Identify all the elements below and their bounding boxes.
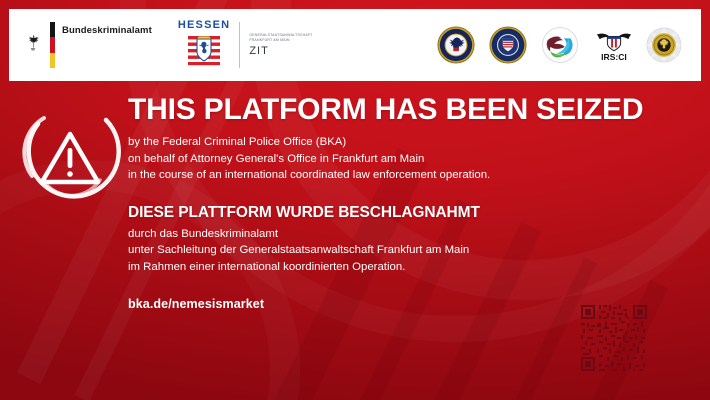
qr-code-icon[interactable] [581, 305, 647, 371]
german-federal-eagle-icon [23, 33, 43, 58]
irs-ci-logo: IRS:CI [593, 26, 631, 64]
german-page-title: DIESE PLATTFORM WURDE BESCHLAGNAHMT [128, 204, 688, 222]
gsta-office-line-2: FRANKFURT AM MAIN [249, 38, 312, 43]
german-body-text: durch das Bundeskriminalamt unter Sachle… [128, 226, 688, 275]
german-agency-logos: Bundeskriminalamt HESSEN [23, 19, 313, 72]
hessen-mark: HESSEN [178, 19, 230, 72]
seizure-notice-page: Bundeskriminalamt HESSEN [0, 0, 710, 400]
gsta-frankfurt-lockup: GENERALSTAATSANWALTSCHAFT FRANKFURT AM M… [239, 22, 312, 68]
bka-wordmark: Bundeskriminalamt [62, 25, 152, 36]
english-body-text: by the Federal Criminal Police Office (B… [128, 134, 688, 183]
german-line-3: im Rahmen einer international koordinier… [128, 259, 688, 275]
english-line-1: by the Federal Criminal Police Office (B… [128, 134, 688, 150]
english-line-3: in the course of an international coordi… [128, 167, 688, 183]
zit-wordmark: ZIT [249, 45, 312, 57]
bka-logo: Bundeskriminalamt [23, 22, 152, 68]
fbi-seal [489, 26, 527, 64]
partner-agency-seals: IRS:CI [437, 26, 687, 64]
hessen-wordmark: HESSEN [178, 19, 230, 31]
us-postal-inspection-service-seal [541, 26, 579, 64]
german-flag-bar-icon [50, 22, 55, 68]
irs-ci-wordmark: IRS:CI [601, 52, 627, 62]
warning-triangle-icon [18, 104, 122, 204]
page-title: THIS PLATFORM HAS BEEN SEIZED [128, 94, 688, 126]
english-line-2: on behalf of Attorney General's Office i… [128, 151, 688, 167]
german-line-1: durch das Bundeskriminalamt [128, 226, 688, 242]
german-line-2: unter Sachleitung der Generalstaatsanwal… [128, 242, 688, 258]
seizure-message: THIS PLATFORM HAS BEEN SEIZED by the Fed… [128, 94, 688, 311]
national-police-star-badge [645, 26, 683, 64]
agency-logo-header: Bundeskriminalamt HESSEN [9, 9, 701, 81]
hessen-lion-shield-icon [187, 33, 221, 72]
us-department-of-justice-seal [437, 26, 475, 64]
hessen-zit-logo: HESSEN [178, 19, 313, 72]
